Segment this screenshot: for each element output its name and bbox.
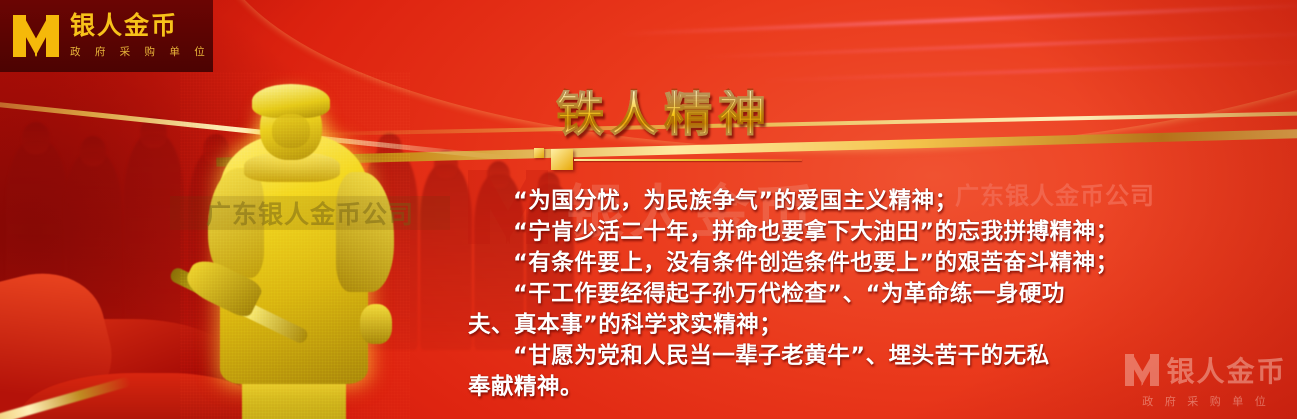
banner-title-block: 铁人精神 bbox=[556, 90, 772, 138]
body-line: “甘愿为党和人民当一辈子老黄牛”、埋头苦干的无私 bbox=[468, 341, 1258, 372]
iron-man-statue bbox=[180, 72, 410, 419]
decor-square-small bbox=[534, 148, 544, 158]
page-title: 铁人精神 bbox=[556, 90, 772, 138]
body-line: 奉献精神。 bbox=[468, 372, 1258, 403]
h-monogram-icon bbox=[13, 15, 59, 57]
brand-company-name: 银人金币 bbox=[70, 13, 210, 39]
body-line: “有条件要上，没有条件创造条件也要上”的艰苦奋斗精神； bbox=[468, 248, 1258, 279]
tieren-spirit-banner: 银人金币 广东银人金币公司 广东银人金币公司 银人金币 政 府 采 购 单 位 … bbox=[0, 0, 1297, 419]
body-line: 夫、真本事”的科学求实精神； bbox=[468, 310, 1258, 341]
brand-subtitle: 政 府 采 购 单 位 bbox=[70, 44, 210, 59]
brand-logo-text: 银人金币 政 府 采 购 单 位 bbox=[70, 13, 210, 58]
decor-square-large bbox=[551, 149, 573, 170]
brand-logo-panel[interactable]: 银人金币 政 府 采 购 单 位 bbox=[0, 0, 213, 72]
spirit-description-text: “为国分忧，为民族争气”的爱国主义精神； “宁肯少活二十年，拼命也要拿下大油田”… bbox=[468, 186, 1258, 403]
body-line: “为国分忧，为民族争气”的爱国主义精神； bbox=[468, 186, 1258, 217]
body-line: “宁肯少活二十年，拼命也要拿下大油田”的忘我拼搏精神； bbox=[468, 217, 1258, 248]
body-line: “干工作要经得起子孙万代检查”、“为革命练一身硬功 bbox=[468, 279, 1258, 310]
title-underline-decoration bbox=[534, 148, 800, 162]
title-underline bbox=[574, 159, 802, 161]
